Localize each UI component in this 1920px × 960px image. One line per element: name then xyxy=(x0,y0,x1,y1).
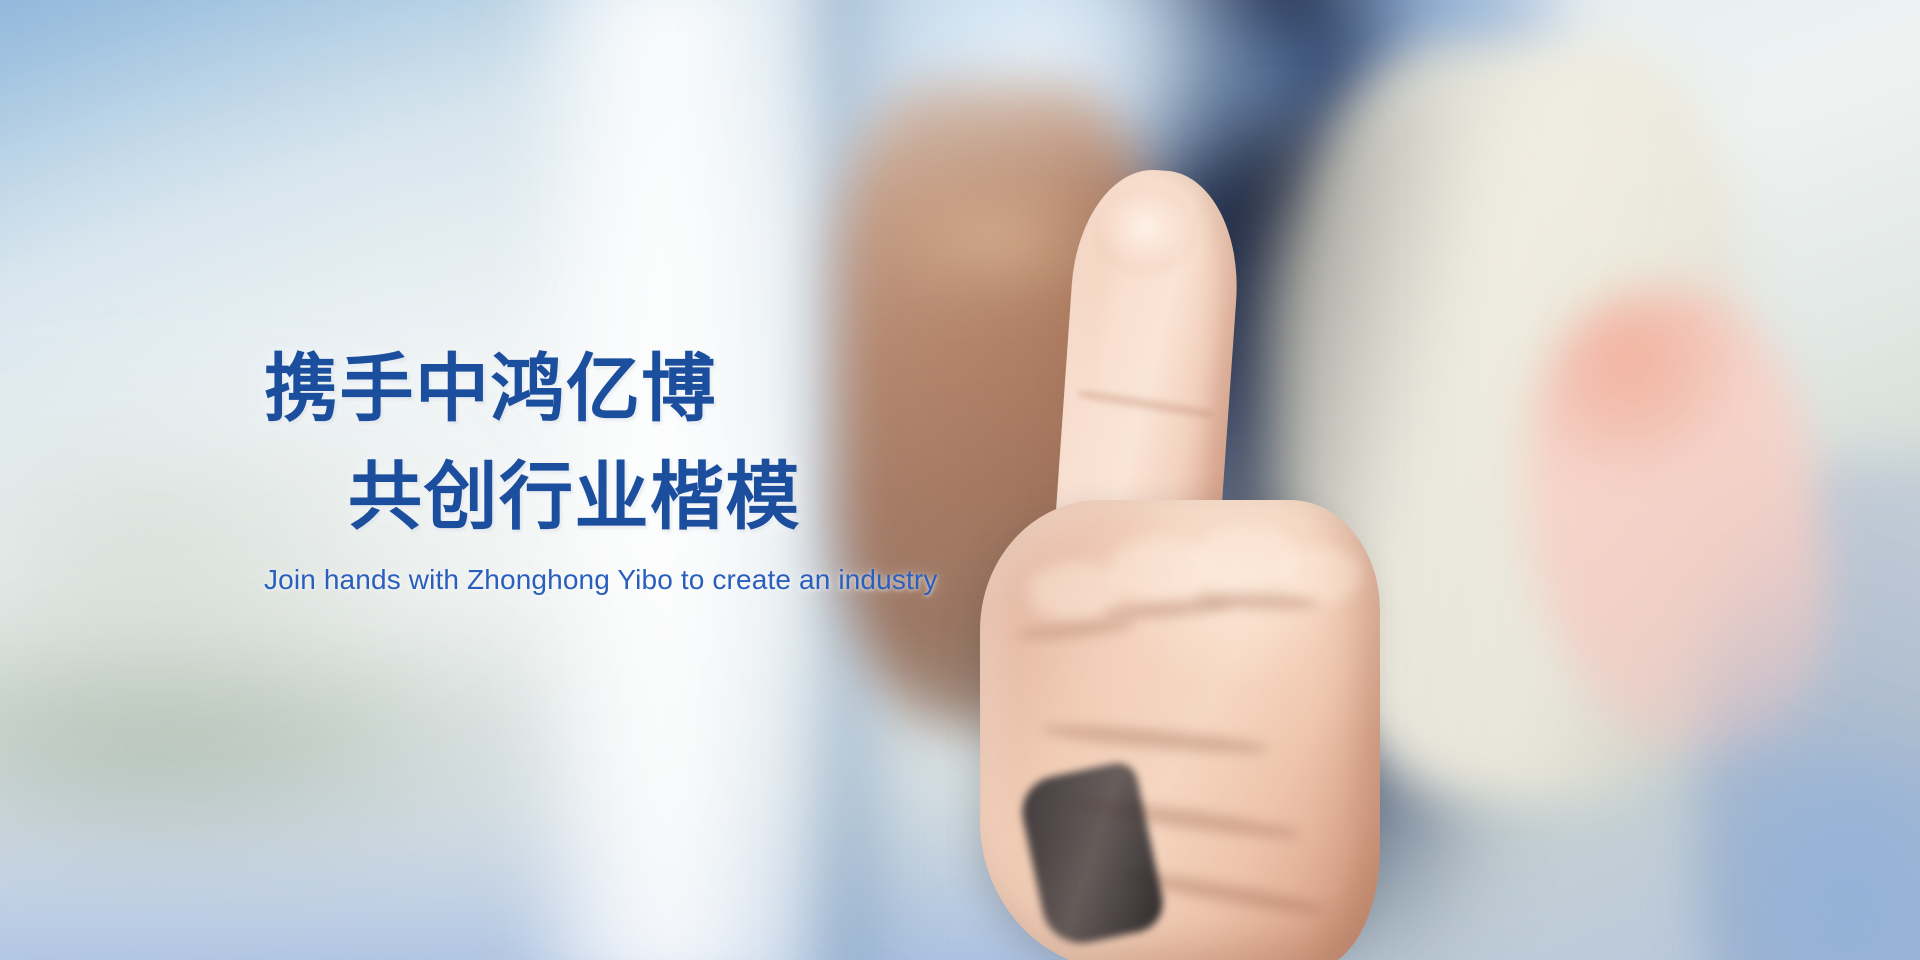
primary-thumbs-up-hand xyxy=(980,170,1400,960)
headline-line-2: 共创行业楷模 xyxy=(348,460,801,534)
banner-subtitle: Join hands with Zhonghong Yibo to create… xyxy=(264,564,938,596)
headline-line-1: 携手中鸿亿博 xyxy=(264,352,717,426)
background-right-blue-cuff xyxy=(1740,760,1920,960)
background-photo xyxy=(0,0,1920,960)
hero-banner: 携手中鸿亿博 共创行业楷模 Join hands with Zhonghong … xyxy=(0,0,1920,960)
